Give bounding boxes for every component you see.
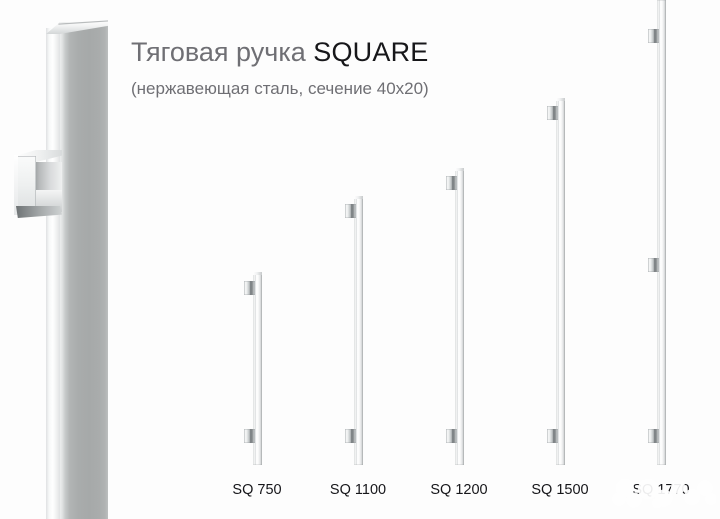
handle-bracket	[648, 429, 659, 443]
handle-bracket	[446, 429, 457, 443]
handle-bar	[657, 0, 666, 465]
handle-bracket	[648, 258, 659, 272]
size-label-sq-1200: SQ 1200	[430, 482, 487, 498]
size-label-sq-750: SQ 750	[232, 482, 281, 498]
featured-handle-mounting-bracket	[14, 150, 62, 220]
bracket-shadow	[654, 258, 656, 272]
handle-top-chamfer	[354, 196, 363, 199]
heading-block: Тяговая ручка SQUARE (нержавеющая сталь,…	[131, 36, 551, 99]
bracket-shadow	[654, 429, 656, 443]
handle-top-chamfer	[253, 272, 262, 275]
handle-bracket	[547, 429, 558, 443]
bracket-shadow	[250, 281, 252, 295]
handle-top-chamfer	[455, 168, 464, 171]
handle-bar	[455, 168, 464, 465]
title-russian: Тяговая ручка	[131, 37, 313, 67]
page-title: Тяговая ручка SQUARE	[131, 36, 551, 69]
page-subtitle: (нержавеющая сталь, сечение 40x20)	[131, 78, 551, 99]
handle-sq-1200	[455, 168, 464, 465]
bracket-shadow	[452, 176, 454, 190]
handle-bar	[556, 98, 565, 465]
handle-bracket	[244, 429, 255, 443]
bracket-shadow	[553, 429, 555, 443]
product-image: Тяговая ручка SQUARE (нержавеющая сталь,…	[0, 0, 720, 519]
handle-sq-1770	[657, 0, 666, 465]
handle-bracket	[244, 281, 255, 295]
featured-handle-bar-face	[59, 22, 108, 519]
handle-bracket	[345, 429, 356, 443]
bracket-shadow	[250, 429, 252, 443]
size-label-sq-1500: SQ 1500	[531, 482, 588, 498]
title-model: SQUARE	[313, 37, 428, 67]
handle-sq-1500	[556, 98, 565, 465]
handle-bracket	[446, 176, 457, 190]
handle-bracket	[547, 106, 558, 120]
bracket-bottom-face	[16, 206, 62, 218]
bracket-shadow	[351, 429, 353, 443]
handle-sq-1100	[354, 196, 363, 465]
size-label-sq-1770: SQ 1770	[632, 482, 689, 498]
size-label-sq-1100: SQ 1100	[330, 482, 386, 498]
handle-bracket	[345, 204, 356, 218]
handle-bracket	[648, 29, 659, 43]
bracket-shadow	[351, 204, 353, 218]
bracket-shadow	[452, 429, 454, 443]
handle-bar	[354, 196, 363, 465]
handle-top-chamfer	[556, 98, 565, 101]
bracket-shadow	[553, 106, 555, 120]
featured-handle	[46, 12, 108, 519]
featured-handle-bar-highlight	[46, 28, 60, 519]
bracket-shadow	[654, 29, 656, 43]
